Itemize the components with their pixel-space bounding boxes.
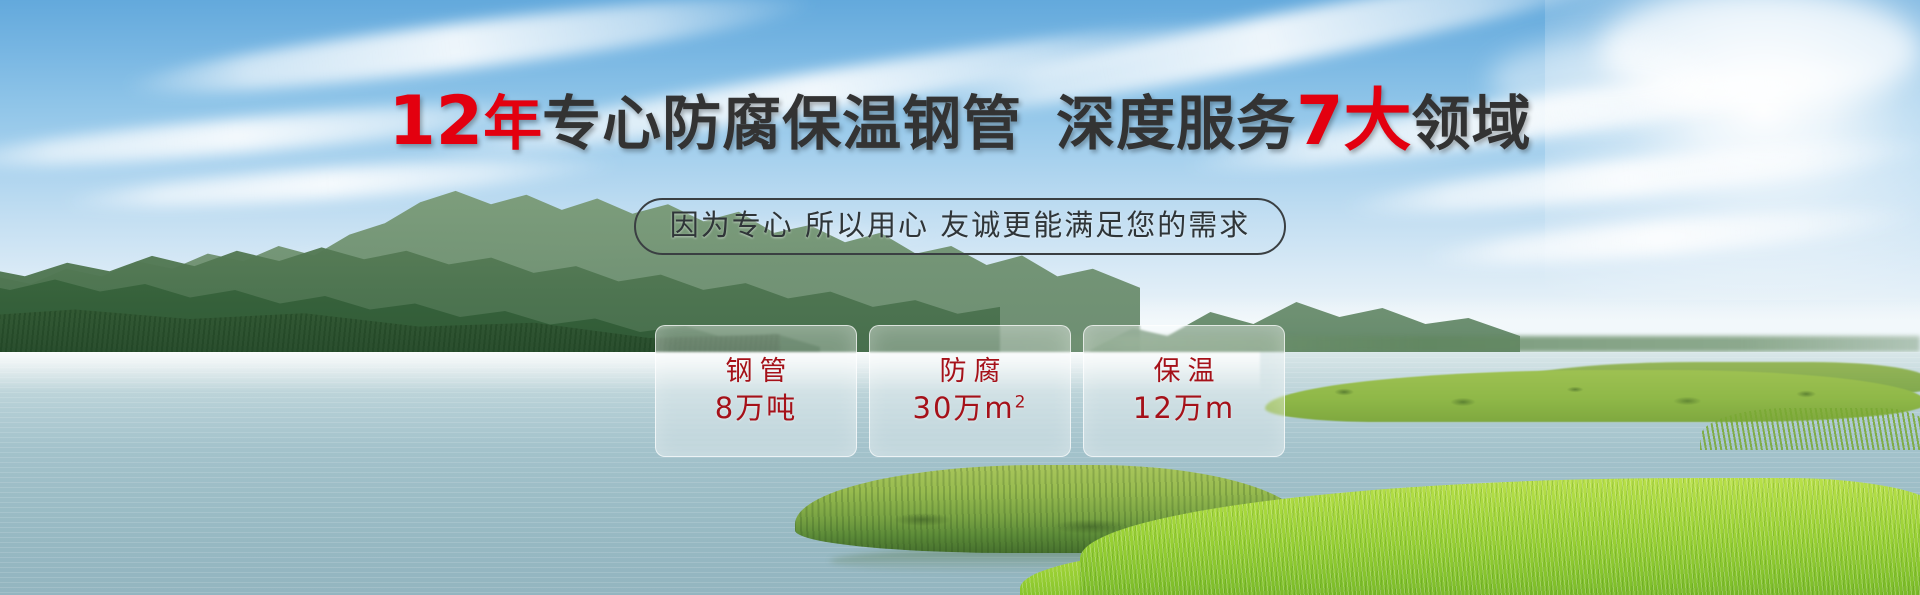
headline: 12年专心防腐保温钢管深度服务7大领域 [0, 88, 1920, 156]
stat-value: 12万m [1133, 393, 1235, 425]
sky-background [0, 0, 1920, 340]
headline-fields-count: 7大 [1296, 82, 1411, 161]
stat-label: 保温 [1147, 357, 1222, 387]
headline-years-unit: 年 [483, 89, 542, 158]
stat-card[interactable]: 防腐 30万m2 [869, 325, 1071, 457]
stat-value: 8万吨 [715, 393, 797, 425]
headline-main-text: 专心防腐保温钢管 [542, 89, 1022, 158]
stat-value-text: 8万吨 [715, 391, 797, 425]
stat-value-superscript: 2 [1015, 392, 1028, 412]
headline-years-number: 12 [388, 82, 483, 161]
stat-value: 30万m2 [913, 393, 1028, 425]
headline-fields-text: 领域 [1412, 89, 1532, 158]
stat-card[interactable]: 保温 12万m [1083, 325, 1285, 457]
stat-card[interactable]: 钢管 8万吨 [655, 325, 857, 457]
stat-value-text: 12万m [1133, 391, 1235, 425]
stat-label: 钢管 [719, 357, 794, 387]
stat-value-text: 30万m [913, 391, 1015, 425]
stats-row: 钢管 8万吨 防腐 30万m2 保温 12万m [655, 325, 1285, 457]
subtitle-pill: 因为专心 所以用心 友诚更能满足您的需求 [634, 198, 1286, 255]
headline-service-text: 深度服务 [1056, 89, 1296, 158]
hero-banner: 12年专心防腐保温钢管深度服务7大领域 因为专心 所以用心 友诚更能满足您的需求… [0, 0, 1920, 595]
stat-label: 防腐 [933, 357, 1008, 387]
